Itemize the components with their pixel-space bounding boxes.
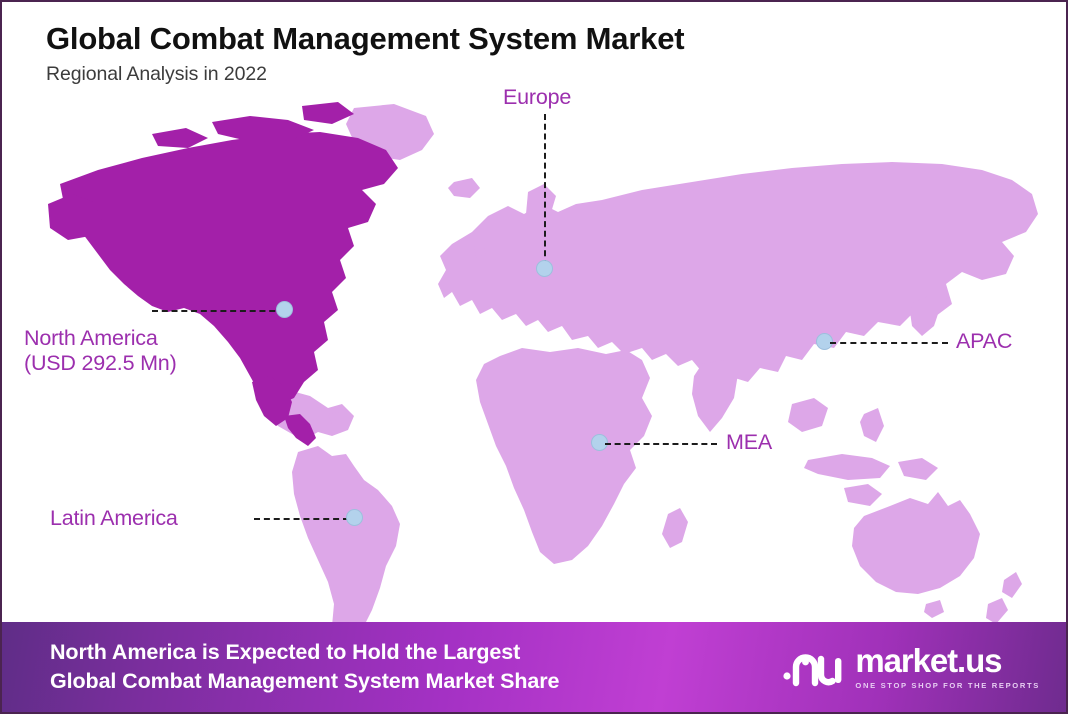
region-label-apac[interactable]: APAC (956, 328, 1012, 354)
region-label-mea[interactable]: MEA (726, 429, 772, 455)
footer-headline: North America is Expected to Hold the La… (50, 638, 559, 696)
leader-line-europe (544, 114, 546, 266)
logo-name: market.us (855, 644, 1040, 677)
footer-banner: North America is Expected to Hold the La… (2, 622, 1068, 712)
map-marker-latin-america[interactable] (346, 509, 363, 526)
leader-line-mea (605, 443, 717, 445)
map-marker-europe[interactable] (536, 260, 553, 277)
footer-headline-line2: Global Combat Management System Market S… (50, 667, 559, 696)
annotation-layer: North America (USD 292.5 Mn) Europe APAC… (2, 2, 1068, 624)
footer-headline-line1: North America is Expected to Hold the La… (50, 638, 559, 667)
region-label-north-america-line2: (USD 292.5 Mn) (24, 351, 177, 376)
region-label-north-america[interactable]: North America (USD 292.5 Mn) (24, 326, 177, 377)
region-label-latin-america-text: Latin America (50, 506, 178, 530)
header-block: Global Combat Management System Market R… (46, 22, 684, 86)
region-label-europe[interactable]: Europe (503, 84, 571, 110)
region-label-apac-text: APAC (956, 329, 1012, 353)
leader-line-latin-america (254, 518, 349, 520)
region-label-north-america-line1: North America (24, 326, 177, 351)
leader-line-apac (830, 342, 948, 344)
leader-line-north-america (152, 310, 285, 312)
logo-text-block: market.us ONE STOP SHOP FOR THE REPORTS (855, 644, 1040, 690)
page-subtitle: Regional Analysis in 2022 (46, 63, 684, 86)
logo-tagline: ONE STOP SHOP FOR THE REPORTS (855, 681, 1040, 690)
region-label-europe-text: Europe (503, 85, 571, 109)
page-title: Global Combat Management System Market (46, 22, 684, 56)
map-marker-north-america[interactable] (276, 301, 293, 318)
infographic-canvas: Global Combat Management System Market R… (0, 0, 1068, 714)
market-us-logo-icon (782, 645, 844, 689)
brand-logo[interactable]: market.us ONE STOP SHOP FOR THE REPORTS (782, 644, 1040, 690)
region-label-mea-text: MEA (726, 430, 772, 454)
region-label-latin-america[interactable]: Latin America (50, 505, 178, 531)
